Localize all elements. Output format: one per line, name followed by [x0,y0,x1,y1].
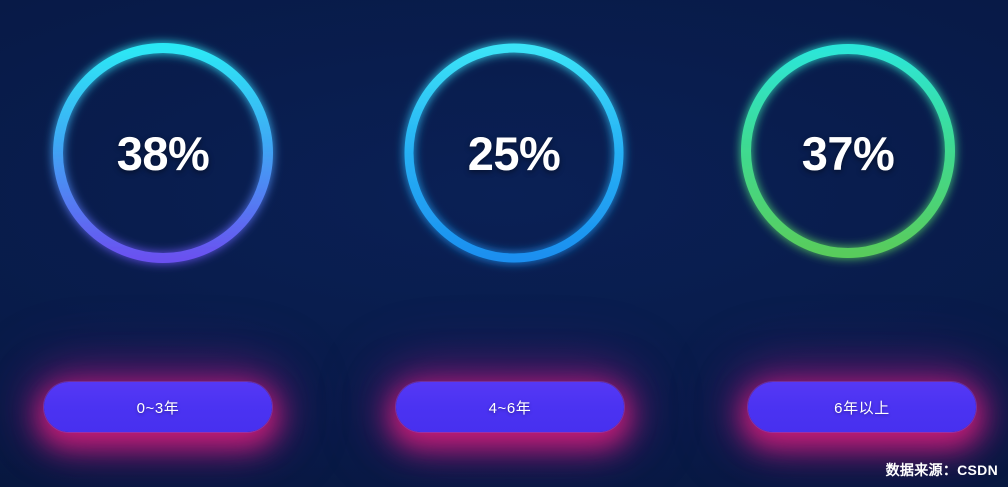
data-source-note: 数据来源：CSDN [886,460,998,480]
category-button-4-6[interactable]: 4~6年 [396,382,624,432]
category-button-4-6-label: 4~6年 [489,397,532,418]
gauge-value-4-6: 25% [399,38,629,268]
category-button-row: 0~3年 4~6年 6年以上 [0,382,1008,434]
gauge-ring-0-3: 38% [48,38,278,268]
category-button-0-3[interactable]: 0~3年 [44,382,272,432]
gauge-value-0-3: 38% [48,38,278,268]
category-button-0-3-label: 0~3年 [137,397,180,418]
infographic-root: 38% [0,0,1008,487]
gauge-ring-6-plus: 37% [733,38,963,268]
category-button-6-plus-label: 6年以上 [834,397,890,418]
gauge-row: 38% [0,0,1008,310]
gauge-ring-4-6: 25% [399,38,629,268]
category-button-6-plus[interactable]: 6年以上 [748,382,976,432]
gauge-value-6-plus: 37% [733,38,963,268]
